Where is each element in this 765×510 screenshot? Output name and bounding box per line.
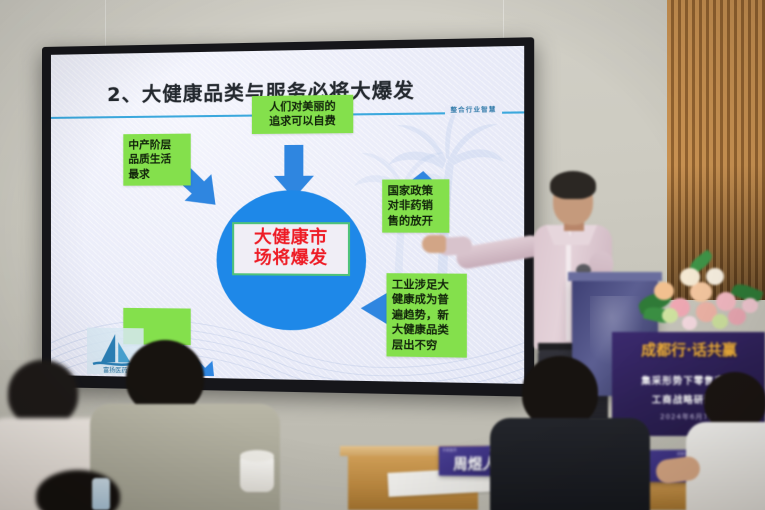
presenter-hair bbox=[550, 171, 596, 199]
green-bloom bbox=[712, 314, 728, 329]
rose bbox=[742, 298, 758, 313]
audience-left-1-head bbox=[8, 360, 78, 426]
water-bottle-left bbox=[92, 478, 110, 510]
audience-member-center bbox=[500, 356, 630, 510]
lily bbox=[680, 268, 700, 286]
hub-label-line-1: 大健康市 bbox=[236, 228, 346, 248]
diagram-hub-label: 大健康市 场将爆发 bbox=[232, 222, 350, 276]
green-bloom bbox=[662, 308, 678, 323]
box-left-line-2: 品质生活 bbox=[128, 152, 185, 167]
box-br-line-4: 大健康品类 bbox=[392, 323, 461, 339]
box-top-line-2: 追求可以自费 bbox=[257, 114, 348, 130]
diagram-box-bottom-right: 工业涉足大 健康成为普 遍趋势，新 大健康品类 层出不穷 bbox=[386, 273, 466, 358]
rose bbox=[682, 316, 697, 330]
presenter-pointing-hand bbox=[422, 235, 446, 253]
box-top-line-1: 人们对美丽的 bbox=[257, 99, 348, 115]
presentation-slide: 2、大健康品类与服务必将大爆发 整合行业智慧 bbox=[51, 46, 524, 384]
box-br-line-2: 健康成为普 bbox=[392, 292, 461, 308]
box-br-line-5: 层出不穷 bbox=[392, 338, 461, 354]
box-br-line-1: 工业涉足大 bbox=[392, 277, 461, 293]
flower-arrangement bbox=[636, 252, 764, 338]
box-right-line-3: 售的放开 bbox=[388, 214, 444, 229]
box-right-line-2: 对非药销 bbox=[388, 199, 444, 214]
display-screen-panel: 2、大健康品类与服务必将大爆发 整合行业智慧 bbox=[51, 46, 524, 384]
audience-member-right bbox=[690, 372, 765, 510]
rose bbox=[654, 282, 674, 300]
tea-cup-lid-left bbox=[240, 450, 274, 462]
presentation-photo-scene: 2、大健康品类与服务必将大爆发 整合行业智慧 bbox=[0, 0, 765, 510]
diagram-box-top: 人们对美丽的 追求可以自费 bbox=[252, 95, 353, 134]
box-right-line-1: 国家政策 bbox=[388, 183, 444, 198]
diagram-box-right: 国家政策 对非药销 售的放开 bbox=[382, 179, 449, 233]
audience-center-body bbox=[490, 418, 650, 510]
box-left-line-1: 中产阶层 bbox=[128, 138, 185, 153]
lily bbox=[706, 268, 724, 285]
audience-left-2-head bbox=[126, 340, 204, 414]
audience-member-bottom-left bbox=[30, 470, 150, 510]
presenter-shirt-placket bbox=[566, 229, 571, 341]
hub-label-line-2: 场将爆发 bbox=[236, 248, 346, 269]
banner-title: 成都行·话共赢 bbox=[620, 339, 758, 360]
box-left-line-3: 最求 bbox=[128, 167, 185, 182]
diagram-box-left: 中产阶层 品质生活 最求 bbox=[123, 134, 190, 187]
box-br-line-3: 遍趋势，新 bbox=[392, 308, 461, 324]
